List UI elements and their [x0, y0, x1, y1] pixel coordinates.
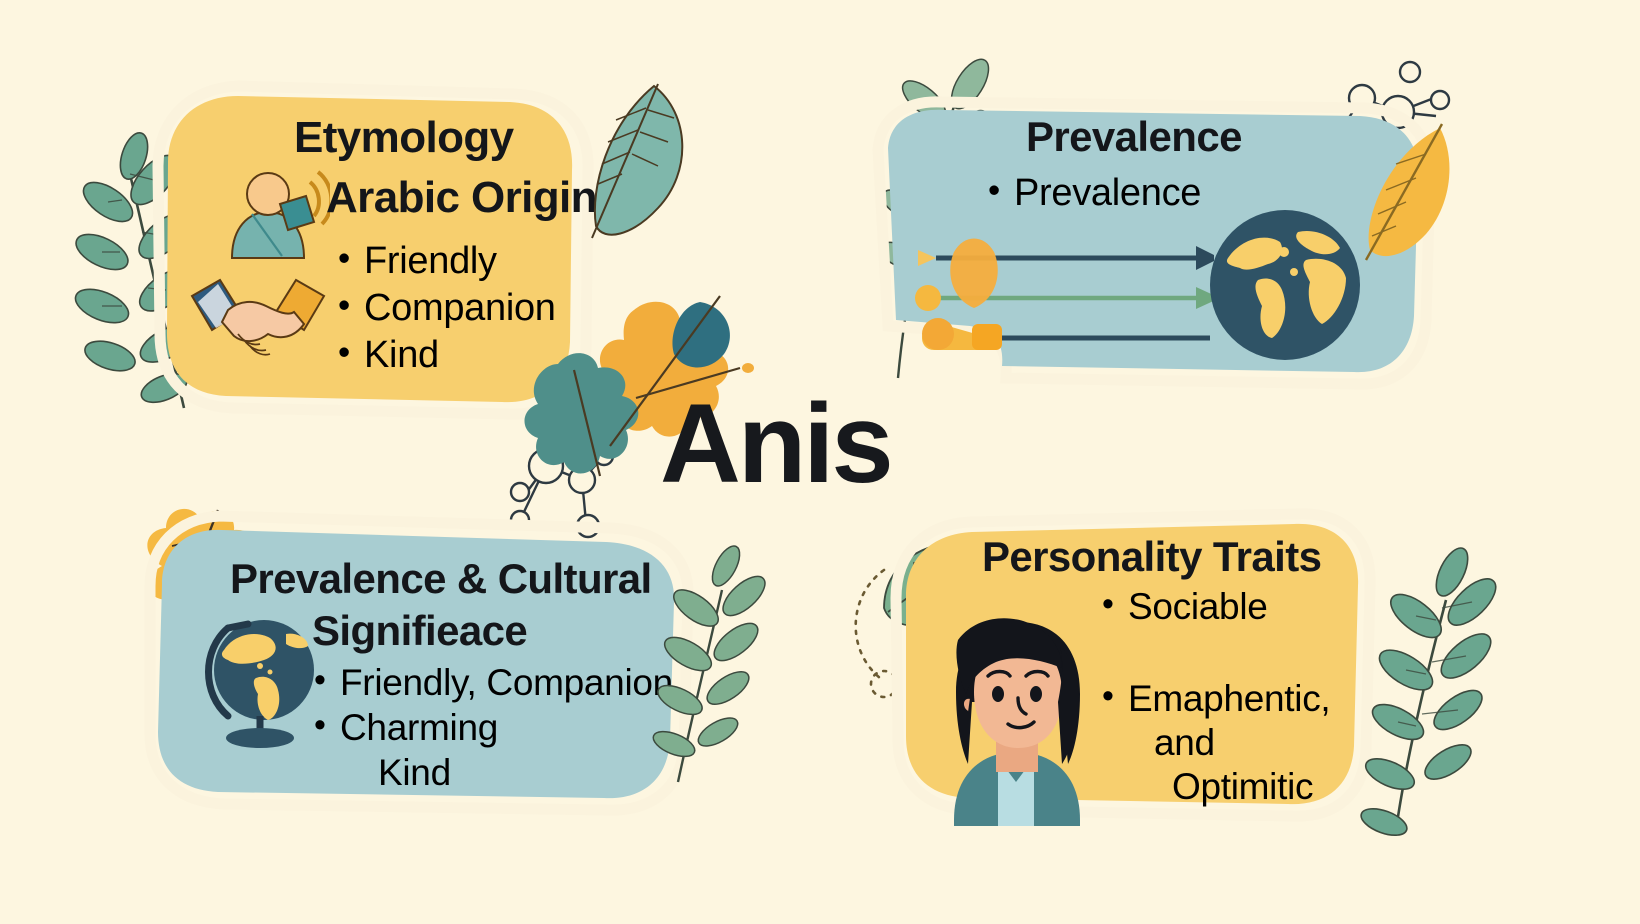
- green-branch-right: [650, 542, 771, 782]
- green-branch-right-2: [1358, 543, 1504, 840]
- page-title: Anis: [660, 388, 891, 500]
- infographic-canvas: Etymology Arabic Origins Friendly Compan…: [0, 0, 1640, 924]
- teal-leaf-top-right: [592, 84, 682, 238]
- palm-leaf-right: [1366, 124, 1449, 260]
